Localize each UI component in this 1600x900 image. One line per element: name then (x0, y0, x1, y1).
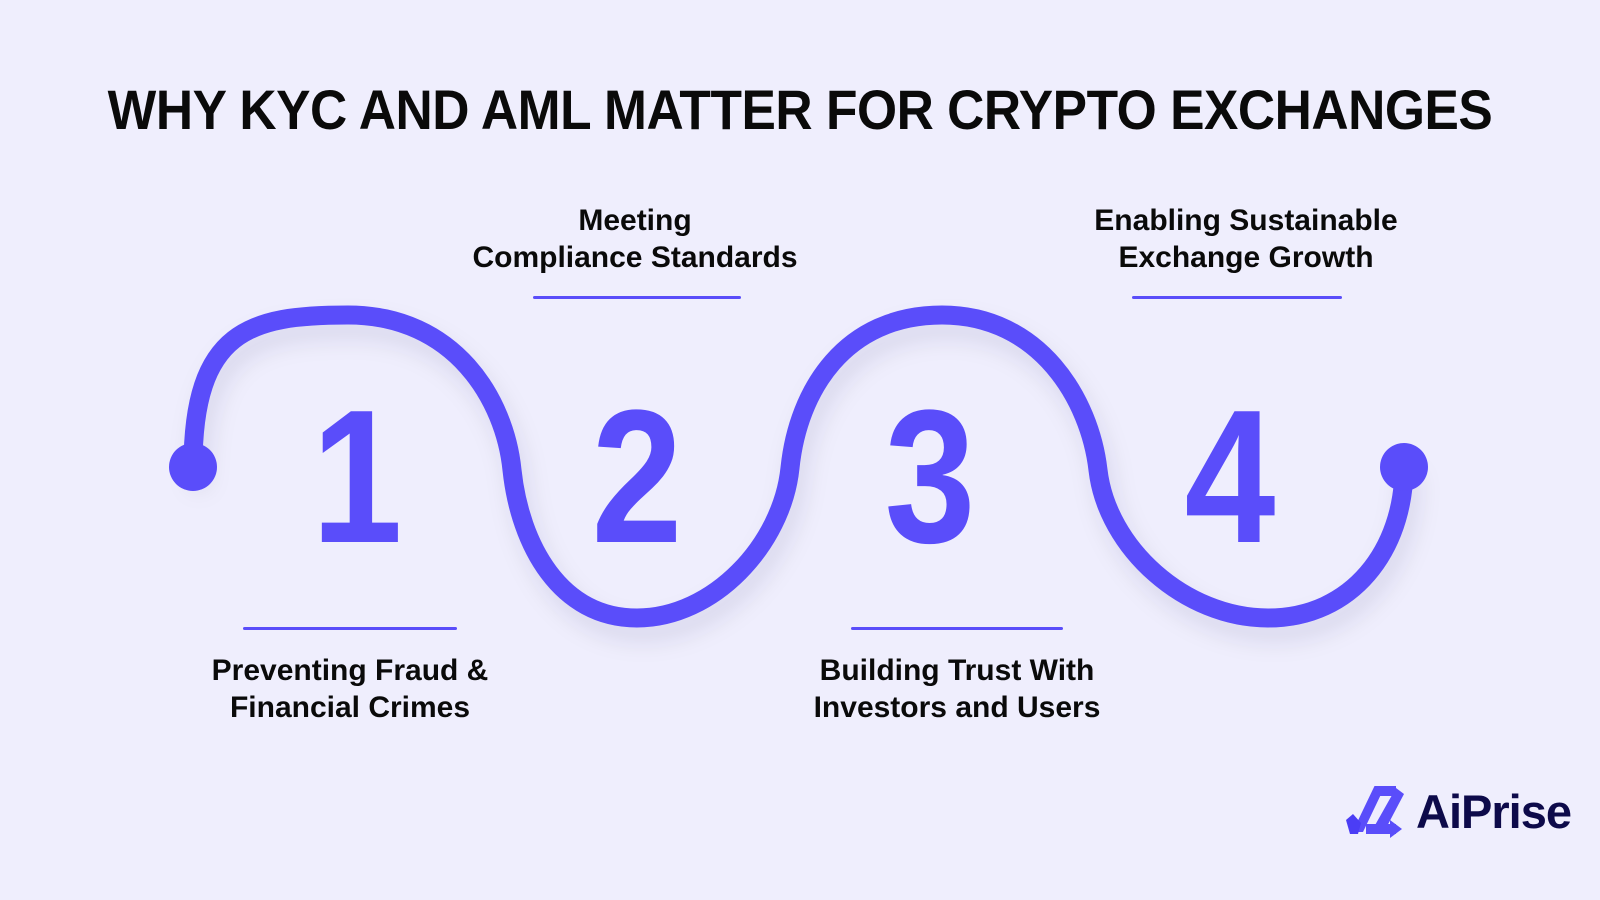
brand-logo: AiPrise (1344, 782, 1571, 840)
end-dot-icon (1380, 443, 1428, 491)
step-label-2: Meeting Compliance Standards (440, 202, 830, 276)
step-label-4: Enabling Sustainable Exchange Growth (1044, 202, 1448, 276)
infographic-canvas: WHY KYC AND AML MATTER FOR CRYPTO EXCHAN… (0, 0, 1600, 900)
start-dot-icon (169, 443, 217, 491)
step-rule-2 (533, 296, 741, 299)
step-rule-4 (1132, 296, 1342, 299)
step-number-2: 2 (551, 382, 723, 572)
page-title: WHY KYC AND AML MATTER FOR CRYPTO EXCHAN… (64, 78, 1536, 142)
step-number-4: 4 (1144, 382, 1316, 572)
step-rule-1 (243, 627, 457, 630)
aiprise-logo-mark-icon (1344, 782, 1406, 840)
step-label-1: Preventing Fraud & Financial Crimes (155, 652, 545, 726)
step-number-3: 3 (844, 382, 1016, 572)
step-number-1: 1 (271, 382, 443, 572)
brand-logo-text: AiPrise (1416, 788, 1571, 835)
step-label-3: Building Trust With Investors and Users (762, 652, 1152, 726)
step-rule-3 (851, 627, 1063, 630)
